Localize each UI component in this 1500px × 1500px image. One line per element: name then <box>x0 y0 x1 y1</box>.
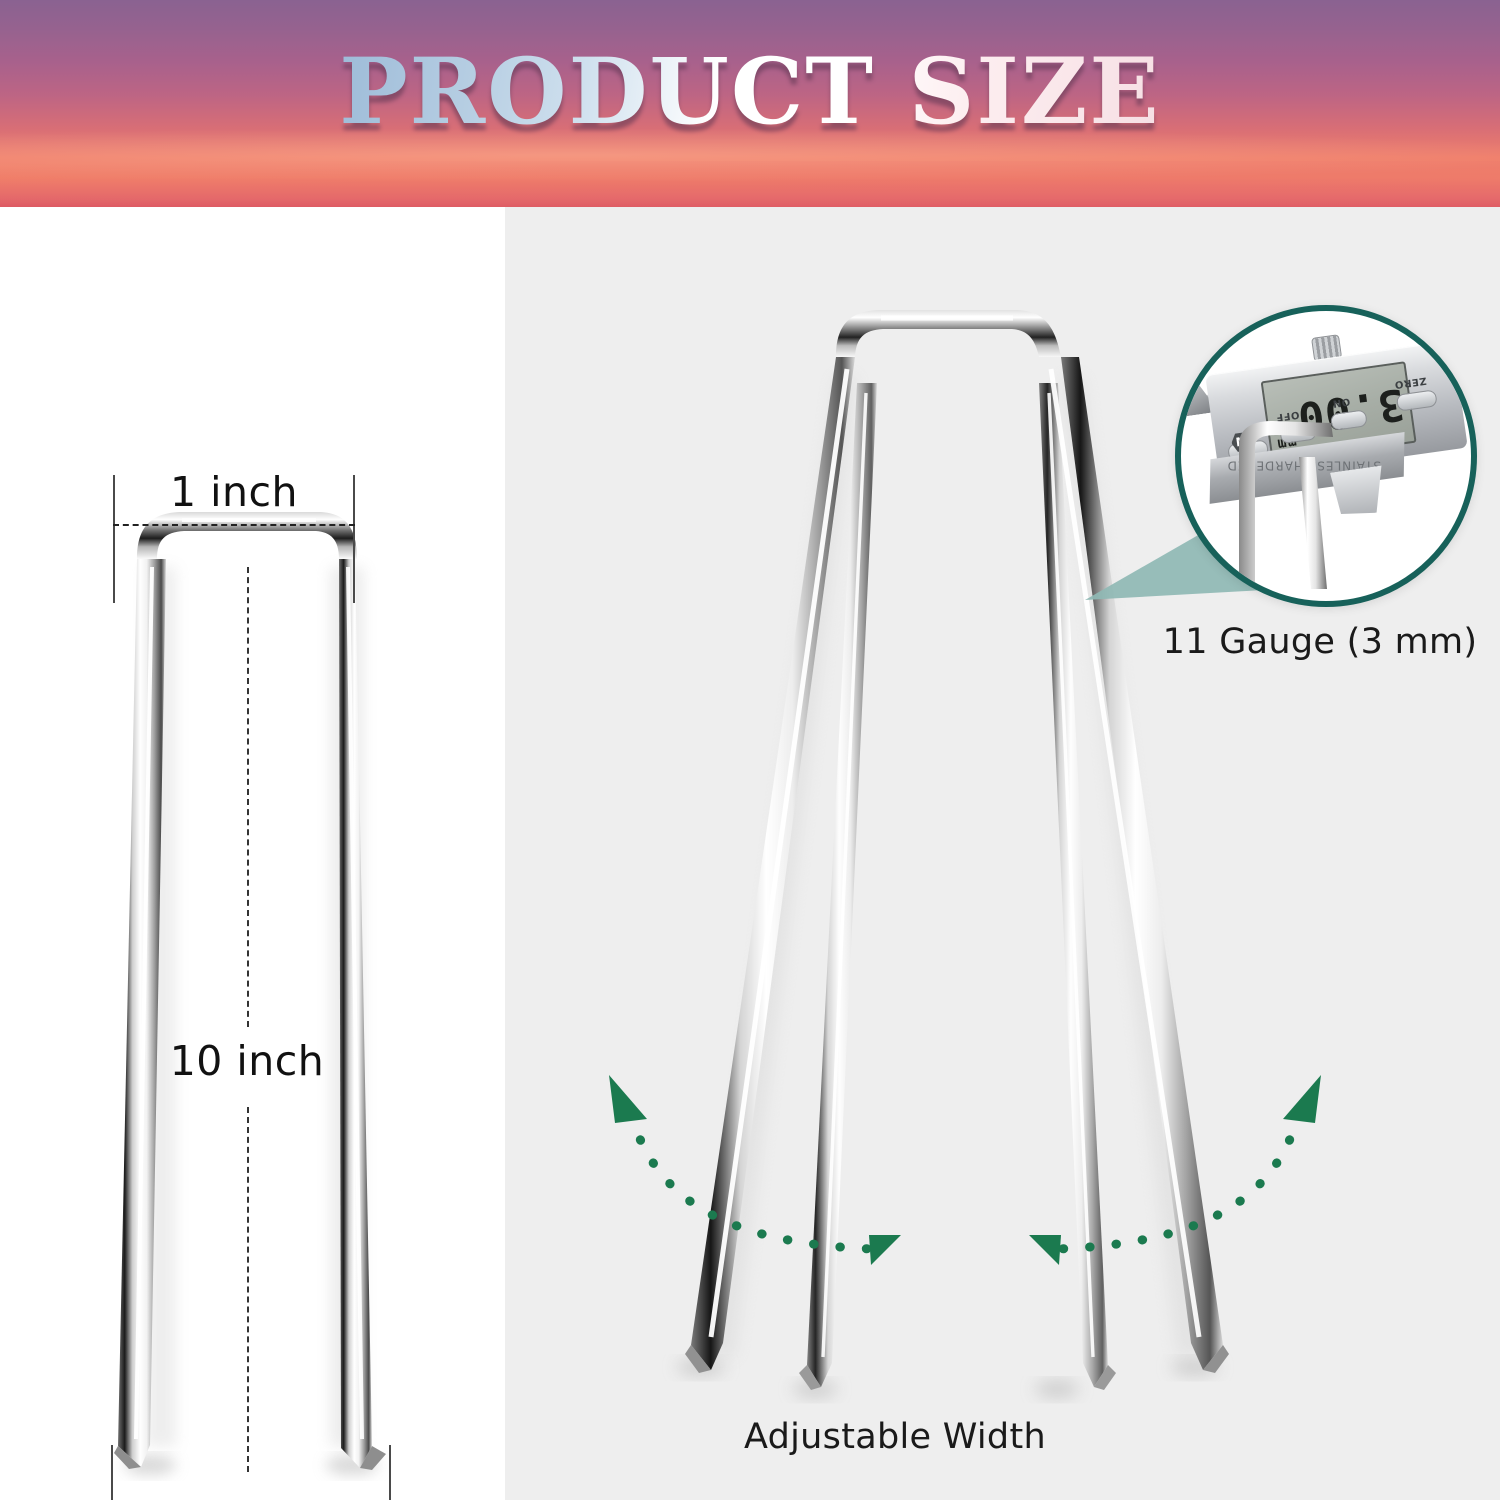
page-title: PRODUCT SIZE PRODUCT SIZE <box>0 47 1500 138</box>
header-banner: PRODUCT SIZE PRODUCT SIZE <box>0 0 1500 207</box>
magnifier-content: 3.00 mm OFF ON ZERO inch/mm M <box>1181 311 1459 589</box>
banner-haze-glow-lower <box>0 161 1500 207</box>
magnifier-circle: 3.00 mm OFF ON ZERO inch/mm M <box>1175 305 1477 607</box>
infographic-page: PRODUCT SIZE PRODUCT SIZE <box>0 0 1500 1500</box>
dimension-ext-right-bottom <box>389 1445 391 1500</box>
adjustable-arrow-left <box>585 1067 925 1297</box>
adjustable-arrow-right <box>1005 1067 1345 1297</box>
left-panel: 1 inch 10 inch 1.5 inch <box>0 207 505 1500</box>
dimension-label-top-width: 1 inch <box>113 468 355 516</box>
adjustable-width-caption: Adjustable Width <box>505 1417 1285 1457</box>
staple-straight-image <box>0 207 505 1500</box>
page-title-text: PRODUCT SIZE <box>339 39 1161 145</box>
dimension-line-height-upper <box>247 567 249 1027</box>
magnifier-label: 11 Gauge (3 mm) <box>1130 622 1500 662</box>
dimension-ext-left-bottom <box>111 1445 113 1500</box>
dimension-line-height-lower <box>247 1107 249 1472</box>
measured-wire <box>1181 311 1459 589</box>
dimension-label-height: 10 inch <box>47 1037 447 1085</box>
dimension-line-top-width <box>113 524 355 526</box>
